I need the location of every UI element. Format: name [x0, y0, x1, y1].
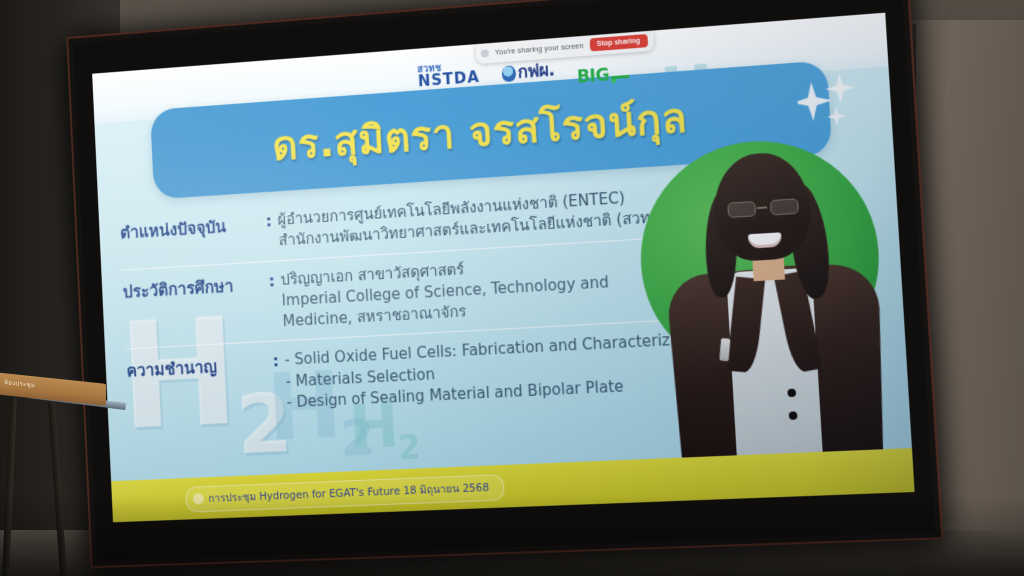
nstda-logo: สวทช NSTDA: [417, 62, 480, 89]
speaker-portrait: [647, 140, 888, 460]
screen-surface: H2 H2 H2 H2 H2 สวทช NSTDA: [92, 13, 915, 523]
screen-share-indicator-icon: [481, 49, 489, 58]
portrait-lapel-pin: [719, 338, 730, 361]
row-label: ตำแหน่งปัจจุบัน: [120, 211, 262, 261]
row-label: ประวัติการศึกษา: [122, 271, 265, 341]
row-value: ปริญญาเอก สาขาวัสดุศาสตร์ Imperial Colle…: [280, 250, 610, 332]
row-colon: :: [272, 351, 281, 414]
avatar: [620, 128, 908, 461]
sharing-message: You're sharing your screen: [495, 41, 584, 57]
photo-scene: H2 H2 H2 H2 H2 สวทช NSTDA: [0, 0, 1024, 576]
row-colon: :: [265, 210, 273, 252]
floor-shadow: [0, 496, 1024, 576]
row-colon: :: [268, 270, 277, 333]
row-label: ความชำนาญ: [126, 351, 269, 421]
big-mark-icon: [611, 66, 630, 82]
egat-mark-icon: [501, 65, 516, 82]
projection-screen: H2 H2 H2 H2 H2 สวทช NSTDA: [66, 0, 943, 568]
big-logo: BIG: [576, 64, 630, 88]
stop-sharing-button[interactable]: Stop sharing: [589, 34, 647, 51]
slide-canvas: H2 H2 H2 H2 H2 สวทช NSTDA: [92, 13, 915, 523]
